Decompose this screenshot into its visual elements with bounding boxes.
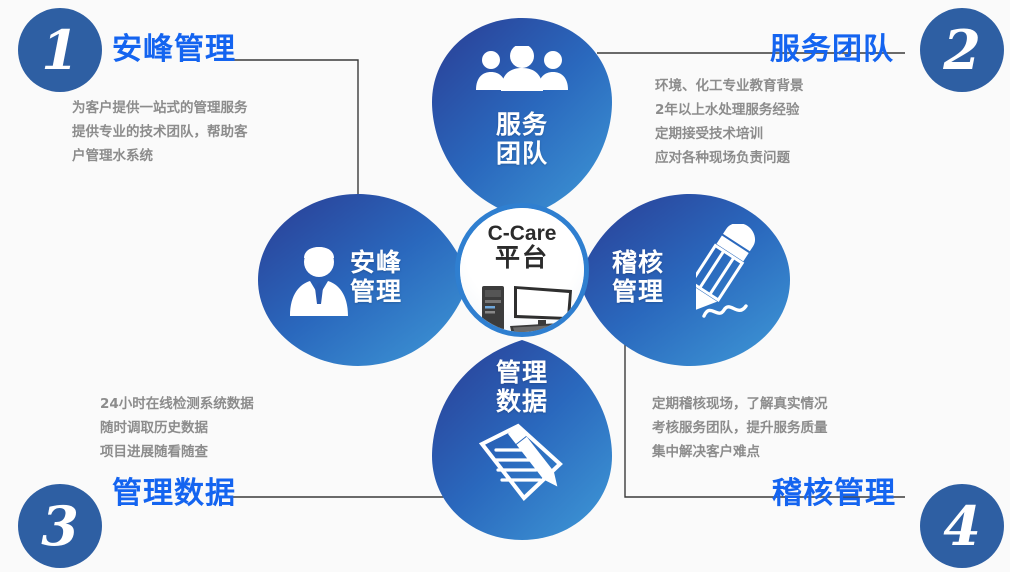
- center-hub-inner: C-Care 平台: [460, 208, 584, 332]
- section-body-line: 环境、化工专业教育背景: [655, 74, 804, 98]
- section-number-badge-1: 1: [18, 8, 102, 92]
- section-title-1: 安峰管理: [112, 24, 236, 68]
- petal-label-line1: 服务: [432, 110, 612, 139]
- center-hub[interactable]: C-Care 平台: [455, 203, 589, 337]
- petal-label-line2: 管理: [612, 277, 698, 306]
- section-number-badge-3: 3: [18, 484, 102, 568]
- section-title-3: 管理数据: [112, 468, 236, 512]
- petal-label-line1: 稽核: [612, 248, 698, 277]
- petal-label-audit-management: 稽核 管理: [612, 248, 698, 306]
- petal-label-line2: 团队: [432, 139, 612, 168]
- petal-service-team[interactable]: 服务 团队: [432, 18, 612, 218]
- section-number-badge-4: 4: [920, 484, 1004, 568]
- section-body-line: 应对各种现场负责问题: [655, 146, 804, 170]
- desktop-computer-icon: [480, 282, 576, 337]
- petal-label-line2: 管理: [350, 277, 436, 306]
- section-title-2: 服务团队: [770, 24, 894, 68]
- section-body-line: 为客户提供一站式的管理服务: [72, 96, 248, 120]
- section-body-4: 定期稽核现场，了解真实情况 考核服务团队，提升服务质量 集中解决客户难点: [652, 392, 828, 464]
- petal-anfeng-management[interactable]: 安峰 管理: [258, 194, 470, 366]
- section-body-line: 户管理水系统: [72, 144, 248, 168]
- businessman-icon: [286, 242, 352, 318]
- section-number-badge-2: 2: [920, 8, 1004, 92]
- section-body-line: 项目进展随看随查: [100, 440, 254, 464]
- connector-line-3: [230, 470, 451, 497]
- petal-manage-data[interactable]: 管理 数据: [432, 340, 612, 540]
- pencil-icon: [696, 224, 772, 334]
- petal-label-manage-data: 管理 数据: [432, 358, 612, 416]
- section-body-line: 考核服务团队，提升服务质量: [652, 416, 828, 440]
- section-body-2: 环境、化工专业教育背景 2年以上水处理服务经验 定期接受技术培训 应对各种现场负…: [655, 74, 804, 170]
- section-body-3: 24小时在线检测系统数据 随时调取历史数据 项目进展随看随查: [100, 392, 254, 464]
- section-body-line: 提供专业的技术团队，帮助客: [72, 120, 248, 144]
- people-group-icon: [474, 46, 570, 92]
- petal-label-anfeng-management: 安峰 管理: [350, 248, 436, 306]
- petal-label-line1: 安峰: [350, 248, 436, 277]
- section-body-line: 集中解决客户难点: [652, 440, 828, 464]
- section-body-line: 2年以上水处理服务经验: [655, 98, 804, 122]
- section-body-line: 定期稽核现场，了解真实情况: [652, 392, 828, 416]
- clipboard-pencil-icon: [474, 420, 570, 504]
- diagram-canvas: 1 2 3 4 安峰管理 服务团队 管理数据 稽核管理 为客户提供一站式的管理服…: [0, 0, 1010, 572]
- section-title-4: 稽核管理: [772, 468, 896, 512]
- section-body-1: 为客户提供一站式的管理服务 提供专业的技术团队，帮助客 户管理水系统: [72, 96, 248, 168]
- petal-label-service-team: 服务 团队: [432, 110, 612, 168]
- section-body-line: 24小时在线检测系统数据: [100, 392, 254, 416]
- section-body-line: 随时调取历史数据: [100, 416, 254, 440]
- section-body-line: 定期接受技术培训: [655, 122, 804, 146]
- petal-audit-management[interactable]: 稽核 管理: [578, 194, 790, 366]
- hub-title-cn: 平台: [495, 246, 549, 270]
- petal-label-line2: 数据: [432, 387, 612, 416]
